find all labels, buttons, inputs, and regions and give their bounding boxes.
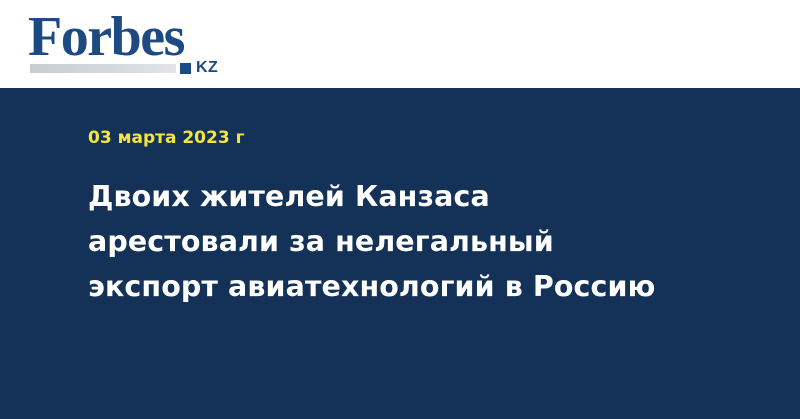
forbes-kz-logo[interactable]: Forbes KZ [28,8,238,80]
article-headline: Двоих жителей Канзаса арестовали за неле… [88,174,740,309]
article-date: 03 марта 2023 г [88,128,740,148]
logo-gray-bar-icon [30,64,176,73]
logo-square-icon [180,63,191,74]
headline-line: Двоих жителей Канзаса [88,174,740,219]
headline-line: арестовали за нелегальный [88,219,740,264]
brand-header: Forbes KZ [0,0,800,88]
headline-line: экспорт авиатехнологий в Россию [88,264,740,309]
article-banner: 03 марта 2023 г Двоих жителей Канзаса ар… [0,88,800,419]
logo-country-code: KZ [196,60,218,76]
news-card: Forbes KZ 03 марта 2023 г Двоих жителей … [0,0,800,419]
forbes-wordmark: Forbes [28,8,184,66]
article-content: 03 марта 2023 г Двоих жителей Канзаса ар… [88,128,740,309]
